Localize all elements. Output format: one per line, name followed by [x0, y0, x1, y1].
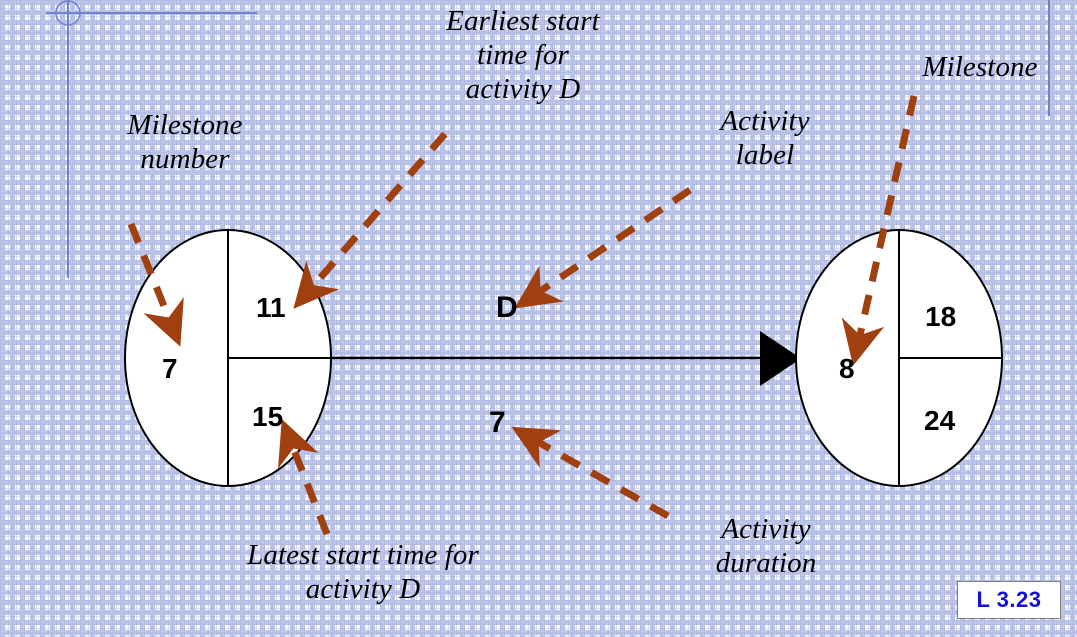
- annotation-activity-duration: Activity duration: [666, 512, 866, 580]
- annotation-milestone-right: Milestone: [880, 50, 1077, 84]
- milestone-node-7: [125, 230, 331, 486]
- right-latest-start-time: 24: [924, 407, 955, 435]
- leader-arrow-earliest-start: [308, 134, 445, 292]
- annotation-earliest-start: Earliest start time for activity D: [398, 4, 648, 107]
- leader-arrow-latest-start: [290, 440, 327, 534]
- annotation-latest-start: Latest start time for activity D: [208, 538, 518, 606]
- left-milestone-number: 7: [162, 355, 178, 383]
- slide-number-badge: L 3.23: [957, 581, 1061, 619]
- activity-label-D: D: [496, 293, 518, 323]
- leader-arrow-activity-label: [533, 190, 690, 296]
- left-latest-start-time: 15: [252, 403, 283, 431]
- activity-duration-value: 7: [489, 408, 506, 438]
- right-milestone-number: 8: [839, 355, 855, 383]
- annotation-milestone-number: Milestone number: [75, 108, 295, 176]
- right-earliest-start-time: 18: [925, 303, 956, 331]
- annotation-activity-label: Activity label: [670, 104, 860, 172]
- slide-canvas: Milestone number Earliest start time for…: [0, 0, 1077, 637]
- milestone-node-8: [796, 230, 1002, 486]
- leader-arrow-activity-duration: [531, 438, 668, 516]
- left-earliest-start-time: 11: [256, 294, 286, 322]
